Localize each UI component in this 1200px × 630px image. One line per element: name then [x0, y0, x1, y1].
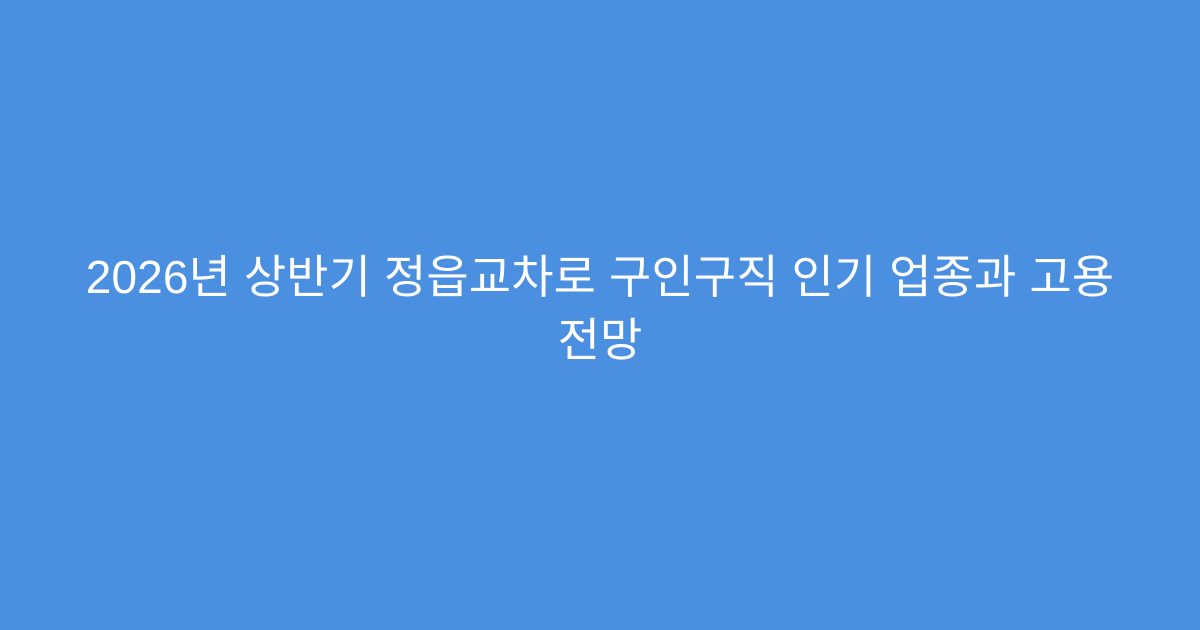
title-block: 2026년 상반기 정읍교차로 구인구직 인기 업종과 고용 전망: [70, 246, 1130, 372]
page-title: 2026년 상반기 정읍교차로 구인구직 인기 업종과 고용 전망: [80, 246, 1120, 372]
og-card: 2026년 상반기 정읍교차로 구인구직 인기 업종과 고용 전망: [0, 0, 1200, 630]
